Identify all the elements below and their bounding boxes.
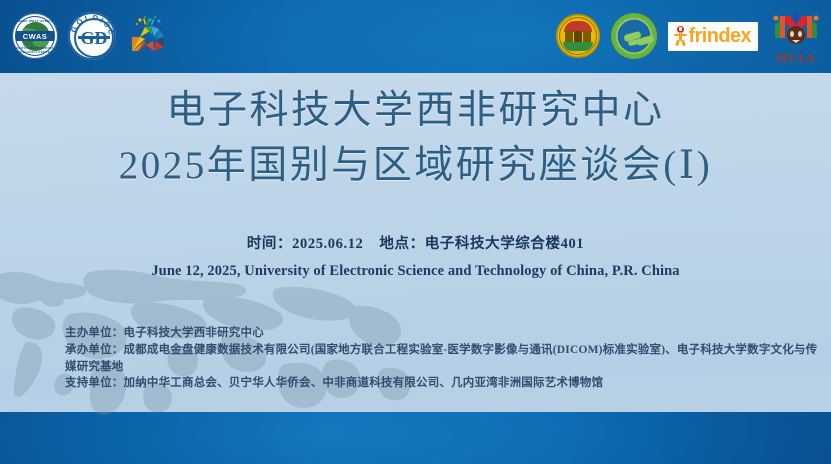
- slide-title-block: 电子科技大学西非研究中心 2025年国别与区域研究座谈会(Ⅰ): [0, 88, 831, 189]
- afrindex-wordmark: frindex: [689, 26, 751, 46]
- organizer-line: 承办单位：成都成电金盘健康数据技术有限公司(国家地方联合工程实验室-医学数字影像…: [65, 342, 825, 376]
- cwas-name-band: CWAS: [16, 31, 54, 41]
- goldisc-logo: GOLDISC GD: [68, 12, 116, 60]
- organizer-block: 主办单位：电子科技大学西非研究中心 承办单位：成都成电金盘健康数据技术有限公司(…: [65, 325, 825, 392]
- miaa-mask-icon: [769, 8, 823, 46]
- afrindex-mark-icon: [674, 26, 687, 46]
- support-label: 支持单位：: [65, 377, 124, 389]
- ghana-chamber-seal-logo: [556, 14, 600, 58]
- afrindex-logo: frindex: [668, 22, 758, 51]
- event-meta-chinese: 时间：2025.06.12地点：电子科技大学综合楼401: [0, 232, 831, 253]
- goldisc-monogram: GD: [76, 20, 112, 56]
- event-meta-english: June 12, 2025, University of Electronic …: [0, 263, 831, 280]
- host-label: 主办单位：: [65, 327, 124, 339]
- colorful-fan-logo: [126, 13, 168, 59]
- goldisc-inner-ring: GD: [74, 18, 114, 58]
- bottom-banner: [0, 412, 831, 464]
- left-logo-group: CHINA WEST AFRICA STUDIES CWAS UESTC WES…: [12, 7, 168, 65]
- time-value: 2025.06.12: [292, 236, 363, 252]
- right-logo-group: frindex MIAA: [556, 5, 823, 67]
- cwas-logo: CHINA WEST AFRICA STUDIES CWAS UESTC WES…: [12, 13, 58, 59]
- cwas-label: CWAS: [23, 32, 48, 41]
- fan-burst: [136, 16, 161, 26]
- presentation-slide: CHINA WEST AFRICA STUDIES CWAS UESTC WES…: [0, 0, 831, 464]
- handshake-inner-circle: [616, 18, 652, 54]
- organizer-label: 承办单位：: [65, 344, 124, 356]
- support-line: 支持单位：加纳中华工商总会、贝宁华人华侨会、中非商道科技有限公司、几内亚湾非洲国…: [65, 375, 825, 392]
- handshake-icon: [624, 29, 654, 49]
- title-line-1: 电子科技大学西非研究中心: [0, 88, 831, 134]
- organizer-value: 成都成电金盘健康数据技术有限公司(国家地方联合工程实验室-医学数字影像与通讯(D…: [65, 344, 817, 373]
- place-label: 地点：: [379, 236, 424, 252]
- miaa-wordmark: MIAA: [769, 51, 823, 65]
- miaa-logo: MIAA: [769, 8, 823, 64]
- host-value: 电子科技大学西非研究中心: [124, 327, 264, 339]
- title-line-2: 2025年国别与区域研究座谈会(Ⅰ): [0, 143, 831, 189]
- fan-blades: [132, 26, 164, 51]
- handshake-seal-logo: [611, 13, 657, 59]
- seal-green-arc: [563, 42, 593, 51]
- host-line: 主办单位：电子科技大学西非研究中心: [65, 325, 825, 342]
- place-value: 电子科技大学综合楼401: [425, 236, 584, 252]
- support-value: 加纳中华工商总会、贝宁华人华侨会、中非商道科技有限公司、几内亚湾非洲国际艺术博物…: [124, 377, 604, 389]
- event-meta-block: 时间：2025.06.12地点：电子科技大学综合楼401 June 12, 20…: [0, 232, 831, 280]
- cwas-ring-text-bottom: UESTC WEST AFRICA RESEARCH CENTER: [12, 46, 58, 54]
- time-label: 时间：: [247, 236, 292, 252]
